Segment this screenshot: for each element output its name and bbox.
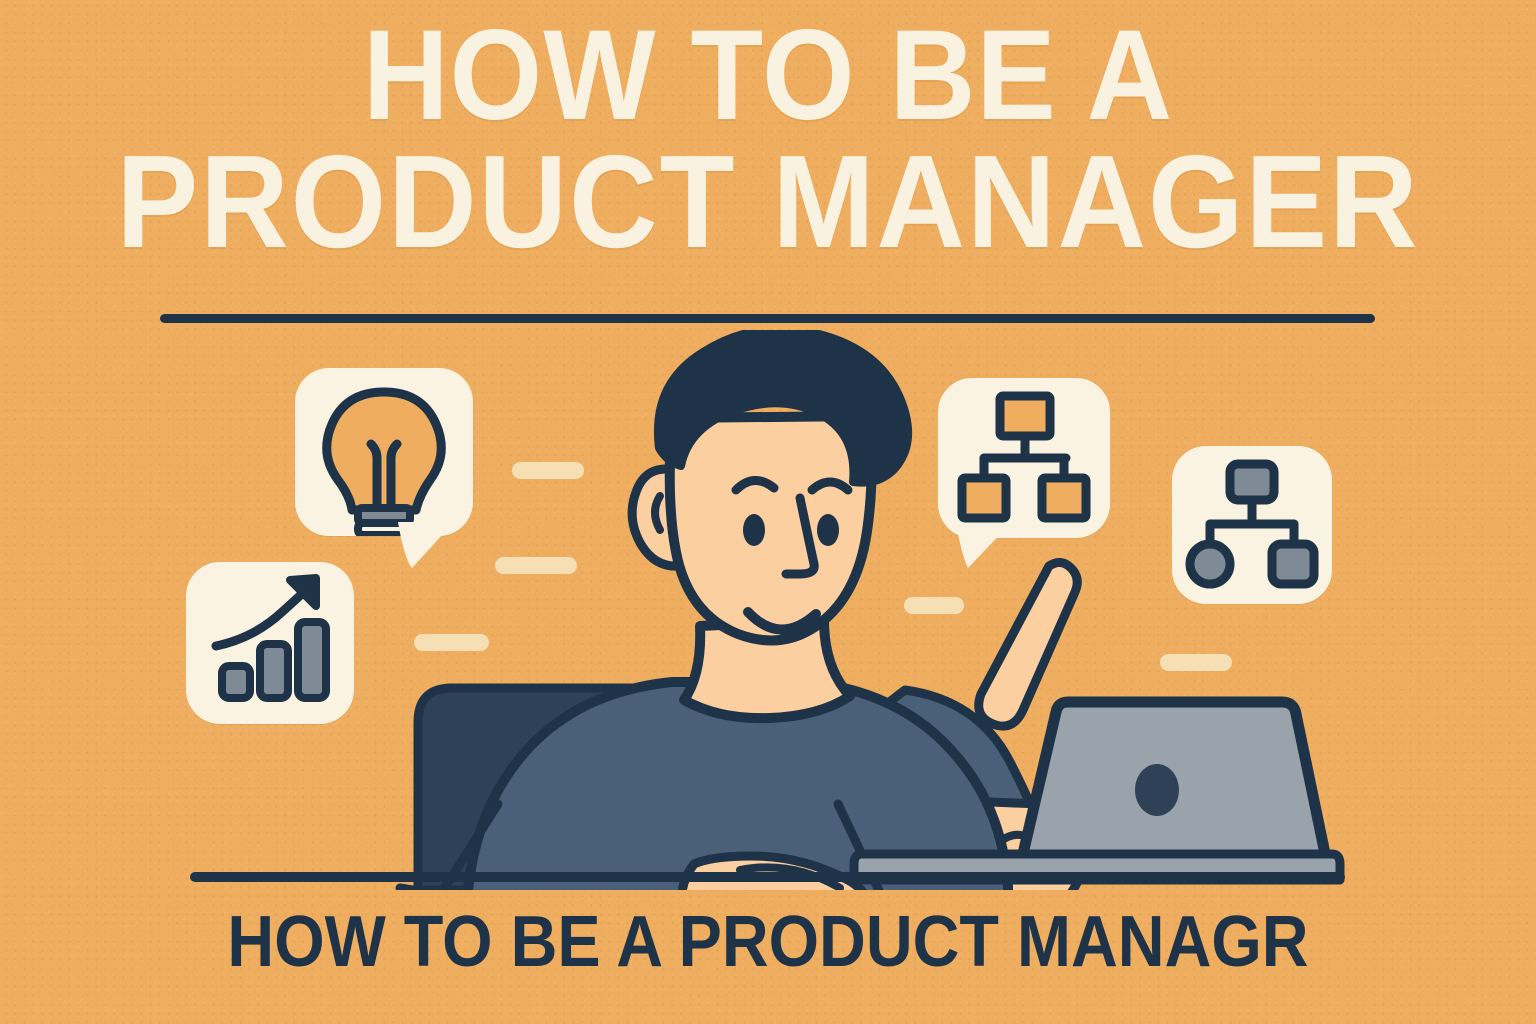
poster-canvas: HOW TO BE A PRODUCT MANAGER [0,0,1536,1024]
icon-card-node-tree[interactable] [1172,446,1332,604]
footer-caption-text: HOW TO BE A PRODUCT MANAGR [77,906,1459,978]
divider-bottom-desk [190,872,1345,882]
node-tree-icon [1172,446,1332,604]
speech-bubble-tail-org-chart [954,522,1012,570]
footer-caption: HOW TO BE A PRODUCT MANAGR [0,906,1536,978]
speech-bubble-tail-lightbulb [396,520,456,570]
laptop-logo [1135,764,1179,816]
eye-right [817,514,839,546]
lightbulb-icon [295,368,473,536]
title-line-2: PRODUCT MANAGER [54,138,1482,266]
icon-card-growth-chart[interactable] [186,562,354,724]
org-chart-icon [938,378,1110,538]
face [670,416,872,640]
page-title: HOW TO BE A PRODUCT MANAGER [0,14,1536,266]
divider-top [160,314,1375,323]
icon-card-lightbulb[interactable] [295,368,473,536]
icon-card-org-chart[interactable] [938,378,1110,538]
title-line-1: HOW TO BE A [54,14,1482,138]
head [632,330,908,640]
eye-left [743,514,765,546]
growth-chart-icon [186,562,354,724]
